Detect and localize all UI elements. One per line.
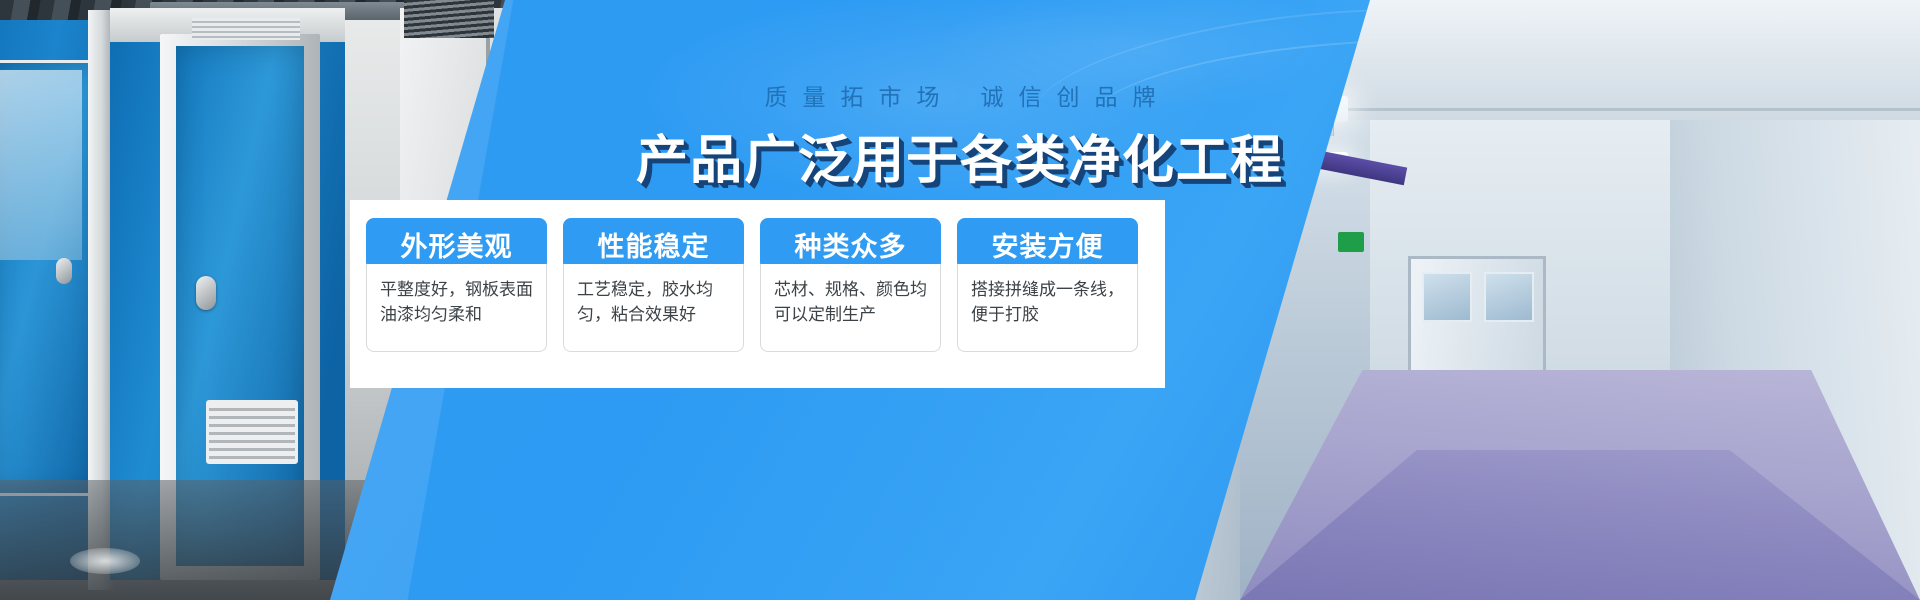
banner-tagline: 质量拓市场诚信创品牌 <box>0 78 1920 112</box>
door-handle <box>196 276 216 310</box>
feature-card-text: 平整度好，钢板表面油漆均匀柔和 <box>366 264 547 352</box>
feature-card-panel: 外形美观 平整度好，钢板表面油漆均匀柔和 性能稳定 工艺稳定，胶水均匀，粘合效果… <box>350 200 1165 388</box>
vent-grille-top-right <box>404 0 494 38</box>
banner-headline: 产品广泛用于各类净化工程 <box>0 118 1920 193</box>
feature-card: 性能稳定 工艺稳定，胶水均匀，粘合效果好 <box>563 218 744 352</box>
tagline-right-text: 诚信创品牌 <box>981 84 1171 110</box>
end-door-window-left <box>1422 272 1472 322</box>
feature-card-title: 种类众多 <box>760 218 941 270</box>
door-lock <box>56 258 72 284</box>
feature-card: 外形美观 平整度好，钢板表面油漆均匀柔和 <box>366 218 547 352</box>
feature-card-title: 性能稳定 <box>563 218 744 270</box>
feature-card-text: 芯材、规格、颜色均可以定制生产 <box>760 264 941 352</box>
feature-card-text: 搭接拼缝成一条线，便于打胶 <box>957 264 1138 352</box>
end-door-window-right <box>1484 272 1534 322</box>
feature-card: 种类众多 芯材、规格、颜色均可以定制生产 <box>760 218 941 352</box>
tagline-left-text: 质量拓市场 <box>765 84 955 110</box>
floor-highlight <box>70 548 140 574</box>
feature-card-text: 工艺稳定，胶水均匀，粘合效果好 <box>563 264 744 352</box>
promo-banner: 质量拓市场诚信创品牌 产品广泛用于各类净化工程 外形美观 平整度好，钢板表面油漆… <box>0 0 1920 600</box>
exit-sign <box>1338 232 1364 252</box>
feature-card-title: 外形美观 <box>366 218 547 270</box>
feature-card-title: 安装方便 <box>957 218 1138 270</box>
feature-card: 安装方便 搭接拼缝成一条线，便于打胶 <box>957 218 1138 352</box>
vent-grille-top <box>192 18 300 40</box>
vent-grille-bottom <box>206 400 298 464</box>
